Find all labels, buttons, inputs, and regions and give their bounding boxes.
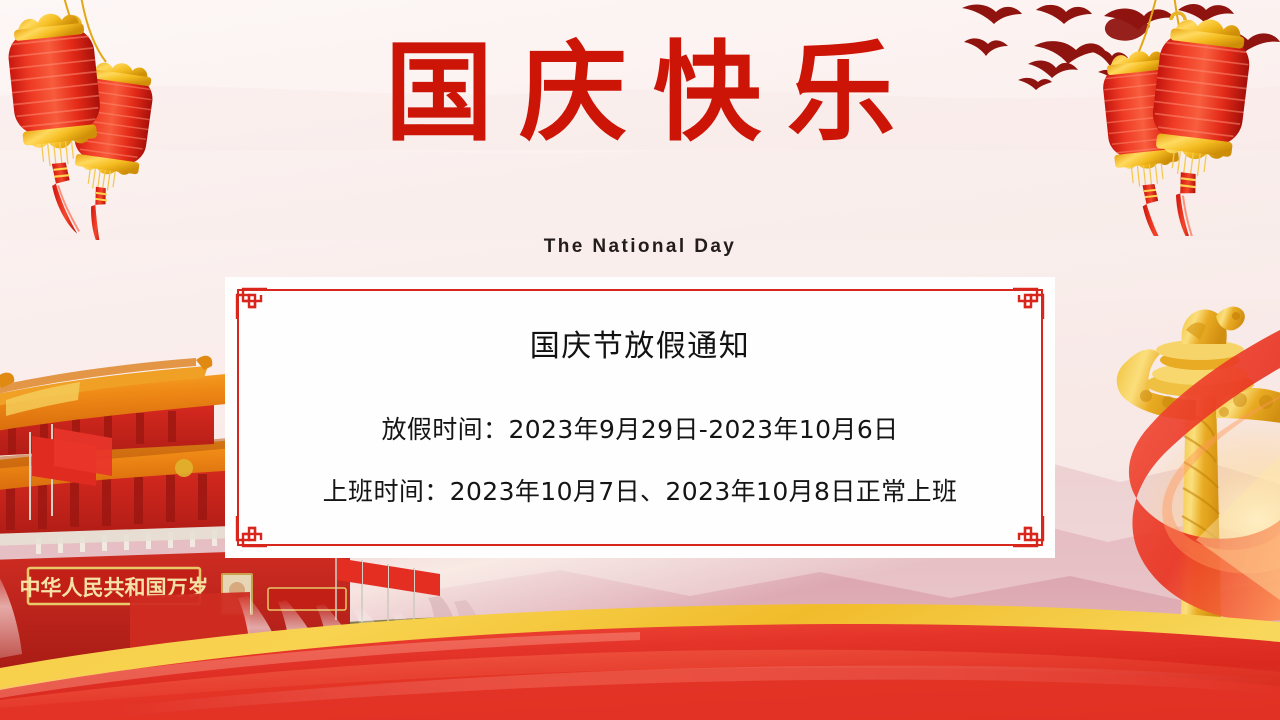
page-title: 国庆快乐 — [359, 34, 921, 155]
notice-holiday-period: 放假时间：2023年9月29日-2023年10月6日 — [381, 410, 898, 446]
red-lantern-pair-right — [1101, 0, 1280, 241]
red-lantern-pair-left — [0, 0, 188, 245]
notice-work-resume: 上班时间：2023年10月7日、2023年10月8日正常上班 — [323, 472, 958, 508]
page-subtitle: The National Day — [0, 236, 1280, 258]
slide-canvas: 中华人民共和国万岁 — [0, 0, 1280, 720]
title-block: 国庆快乐 — [0, 34, 1280, 155]
notice-card: 国庆节放假通知 放假时间：2023年9月29日-2023年10月6日 上班时间：… — [225, 277, 1055, 558]
notice-title: 国庆节放假通知 — [530, 321, 751, 365]
